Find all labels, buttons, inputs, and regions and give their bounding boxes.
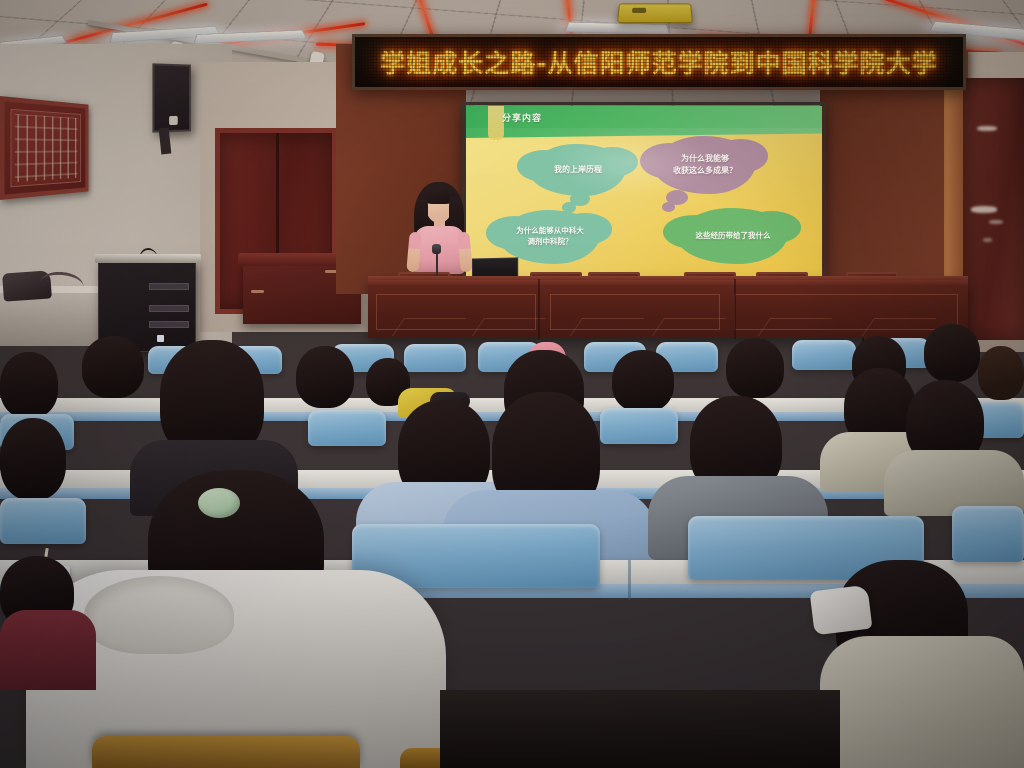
hair-scrunchie — [198, 488, 240, 518]
front-chair-back — [92, 736, 360, 768]
table-seam — [734, 279, 736, 339]
head-table — [368, 280, 968, 338]
audience-head — [612, 350, 674, 412]
audience-body — [0, 610, 96, 690]
hoodie-collar — [84, 576, 234, 654]
rack-slot — [149, 305, 189, 312]
audience-seat — [792, 340, 856, 370]
table-chevron — [392, 318, 466, 336]
audience-head — [978, 346, 1024, 400]
floor-gap — [440, 690, 840, 768]
bubble-tail — [662, 202, 675, 212]
slide-bubble-my-journey: 我的上岸历程 — [530, 144, 626, 196]
rack-power-led — [157, 335, 164, 342]
slide-bubble-why-transfer: 为什么能够从中科大 调剂中科院？ — [500, 210, 600, 264]
bubble-text: 为什么能够从中科大 调剂中科院？ — [516, 226, 584, 248]
audience-head — [82, 336, 144, 398]
table-seam — [538, 279, 540, 339]
table-chevron — [472, 318, 546, 336]
audience-seat — [952, 506, 1024, 562]
slide-bubble-what-experience-gave: 这些经历带给了我什么 — [678, 208, 788, 264]
door-glare — [971, 206, 997, 213]
door-right[interactable] — [963, 78, 1024, 340]
audience-seat — [308, 410, 386, 446]
podium-trim — [251, 290, 264, 293]
rack-slot — [149, 321, 189, 328]
door-glare — [977, 126, 997, 131]
lecture-hall-photo: 学姐成长之路-从信阳师范学院到中国科学院大学 分享内容 我的上岸历程 为什么我能… — [0, 0, 1024, 768]
door-glare — [989, 220, 1003, 224]
desk-seam — [628, 560, 631, 600]
tissue-pack — [810, 585, 873, 636]
presenter-arm-right — [457, 232, 472, 273]
scroll-inner-mat — [11, 109, 81, 187]
bubble-text: 我的上岸历程 — [554, 164, 602, 176]
table-chevron — [862, 318, 936, 336]
led-banner: 学姐成长之路-从信阳师范学院到中国科学院大学 — [352, 34, 966, 90]
audience-body — [820, 636, 1024, 768]
audience-seat — [600, 408, 678, 444]
audience-seat — [0, 498, 86, 544]
table-chevron — [652, 318, 726, 336]
calligraphy-scroll-frame — [0, 96, 88, 200]
bubble-text: 这些经历带给了我什么 — [696, 231, 771, 242]
wall-speaker — [152, 63, 190, 132]
audience-head — [924, 324, 980, 382]
table-chevron — [570, 318, 644, 336]
bubble-text: 为什么我能够 收获这么多成果？ — [673, 153, 737, 176]
audience-head — [0, 418, 66, 500]
audience-head — [0, 352, 58, 418]
led-banner-text: 学姐成长之路-从信阳师范学院到中国科学院大学 — [355, 37, 963, 87]
ceiling-projector — [617, 4, 693, 23]
stage-back-wall-right — [820, 90, 944, 300]
audience-seat — [404, 344, 466, 372]
audience-head — [726, 338, 784, 398]
audience-head — [296, 346, 354, 408]
slide-header-title: 分享内容 — [502, 111, 542, 124]
calligraphy-strokes — [15, 114, 78, 182]
projection-screen: 分享内容 我的上岸历程 为什么我能够 收获这么多成果？ 为什么能够从中科大 调剂… — [466, 106, 822, 278]
slide-bubble-why-many-results: 为什么我能够 收获这么多成果？ — [654, 136, 756, 194]
rack-slot — [149, 283, 189, 290]
table-chevron — [758, 318, 832, 336]
rack-top-surface — [95, 254, 201, 263]
microphone — [432, 244, 441, 254]
door-glare — [983, 238, 992, 242]
